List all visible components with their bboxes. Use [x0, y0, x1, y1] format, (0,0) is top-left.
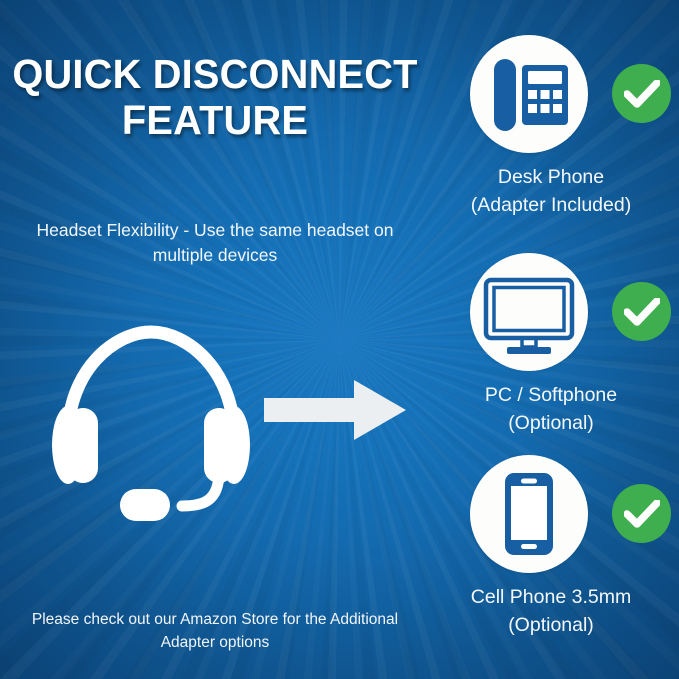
device-label-line-1: Desk Phone	[420, 164, 679, 192]
monitor-icon	[470, 253, 588, 371]
check-circle-icon	[612, 282, 671, 341]
subtitle-text: Headset Flexibility - Use the same heads…	[12, 218, 418, 269]
desk-phone-icon	[470, 35, 588, 153]
page-title: QUICK DISCONNECT FEATURE	[6, 52, 423, 144]
right-arrow-icon	[262, 378, 408, 442]
device-label-line-2: (Optional)	[416, 612, 679, 640]
footnote-text: Please check out our Amazon Store for th…	[20, 608, 410, 655]
device-label-line-1: PC / Softphone	[420, 382, 679, 410]
device-label: Desk Phone (Adapter Included)	[420, 164, 679, 219]
product-feature-poster: QUICK DISCONNECT FEATURE Headset Flexibi…	[0, 0, 679, 679]
headset-icon	[42, 322, 260, 522]
cell-phone-icon	[470, 455, 588, 573]
device-label-line-2: (Optional)	[420, 410, 679, 438]
device-label-line-2: (Adapter Included)	[420, 192, 679, 220]
device-label: PC / Softphone (Optional)	[420, 382, 679, 437]
page-title-line-1: QUICK DISCONNECT	[6, 52, 423, 98]
device-label: Cell Phone 3.5mm (Optional)	[416, 584, 679, 639]
device-label-line-1: Cell Phone 3.5mm	[416, 584, 679, 612]
left-content-column: QUICK DISCONNECT FEATURE Headset Flexibi…	[0, 0, 430, 679]
page-title-line-2: FEATURE	[6, 98, 423, 144]
check-circle-icon	[612, 484, 671, 543]
check-circle-icon	[612, 64, 671, 123]
